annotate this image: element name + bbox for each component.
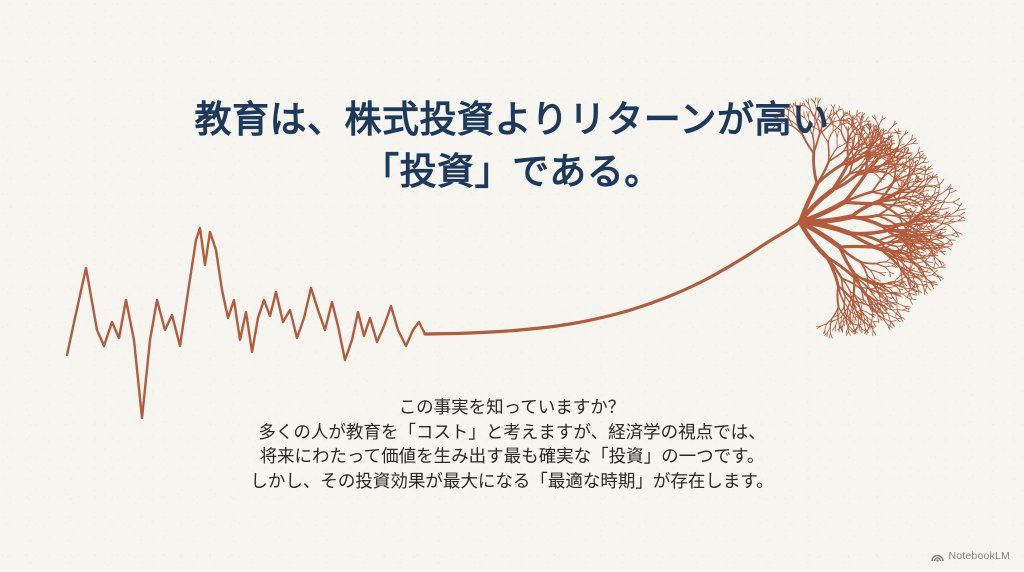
tree-branch (897, 303, 905, 307)
body-paragraph: この事実を知っていますか？ 多くの人が教育を「コスト」と考えますが、経済学の視点… (0, 395, 1024, 493)
tree-branch (910, 265, 911, 271)
tree-branch (941, 247, 946, 248)
tree-branch (947, 246, 952, 247)
tree-branch (927, 225, 933, 227)
body-line-2: 多くの人が教育を「コスト」と考えますが、経済学の視点では、 (0, 420, 1024, 445)
tree-branch (873, 322, 875, 327)
tree-branch (915, 291, 916, 295)
tree-branch (841, 317, 842, 325)
tree-branch (833, 326, 836, 330)
tree-branch (935, 262, 938, 266)
body-line-3: 将来にわたって価値を生み出す最も確実な「投資」の一つです。 (0, 444, 1024, 469)
tree-branch (828, 327, 831, 333)
tree-branch (910, 294, 915, 296)
tree-branch (848, 332, 850, 336)
tree-branch (921, 281, 929, 283)
tree-branch (924, 236, 935, 237)
tree-branch (948, 224, 956, 231)
notebooklm-watermark: NotebookLM (931, 550, 1010, 562)
tree-branch (853, 316, 854, 322)
tree-branch (943, 235, 951, 236)
tree-branch (947, 240, 951, 244)
tree-branch (896, 295, 898, 301)
tree-branch (885, 266, 892, 267)
tree-branch (927, 285, 931, 290)
tree-branch (875, 278, 881, 281)
tree-branch (953, 202, 959, 205)
tree-branch (886, 262, 893, 264)
tree-branch (825, 324, 826, 330)
tree-branch (947, 247, 951, 250)
tree-branch (910, 294, 912, 299)
title-line-2: 「投資」である。 (0, 146, 1024, 198)
tree-branch (846, 315, 847, 320)
tree-branch (885, 267, 889, 272)
tree-branch (935, 214, 939, 215)
tree-branch (957, 209, 965, 211)
tree-branch (935, 218, 941, 221)
tree-branch (910, 299, 916, 300)
tree-branch (952, 235, 958, 237)
tree-branch (902, 310, 909, 312)
page-title: 教育は、株式投資よりリターンが高い 「投資」である。 (0, 94, 1024, 198)
tree-branch (878, 215, 894, 216)
tree-branch (830, 333, 832, 338)
body-line-1: この事実を知っていますか？ (0, 395, 1024, 420)
tree-branch (829, 333, 830, 338)
tree-branch (934, 262, 935, 267)
tree-branch (937, 240, 943, 243)
tree-branch (952, 232, 958, 235)
tree-branch (890, 322, 891, 328)
tree-branch (890, 320, 896, 321)
tree-branch (876, 264, 885, 268)
tree-branch (876, 262, 886, 264)
tree-branch (890, 321, 894, 326)
tree-branch (839, 326, 840, 332)
watermark-label: NotebookLM (948, 550, 1010, 562)
tree-branch (879, 292, 885, 293)
tree-branch (850, 312, 851, 320)
tree-branch (927, 227, 932, 231)
tree-branch (953, 198, 960, 202)
tree-branch (851, 216, 878, 218)
tree-branch (840, 247, 854, 273)
tree-branch (878, 216, 895, 225)
tree-branch (931, 226, 932, 231)
tree-branch (907, 293, 909, 296)
tree-branch (928, 252, 932, 255)
tree-branch (859, 324, 863, 325)
chart-line-group (67, 222, 800, 418)
tree-branch (947, 244, 952, 245)
tree-branch (892, 266, 896, 267)
chart-series-volatile-market-segment (67, 228, 425, 418)
tree-branch (910, 299, 912, 304)
tree-branch (957, 203, 962, 210)
tree-branch (940, 227, 946, 230)
body-line-4: しかし、その投資効果が最大になる「最適な時期」が存在します。 (0, 469, 1024, 494)
title-line-1: 教育は、株式投資よりリターンが高い (0, 94, 1024, 146)
slide-canvas: 教育は、株式投資よりリターンが高い 「投資」である。 この事実を知っていますか？… (0, 0, 1024, 572)
tree-branch (890, 272, 891, 277)
tree-branch (930, 216, 934, 218)
tree-branch (959, 212, 965, 216)
tree-branch (943, 236, 950, 240)
tree-branch (940, 208, 949, 210)
tree-branch (873, 330, 876, 335)
tree-branch (909, 218, 910, 226)
chart-series-smooth-growth-segment (425, 222, 800, 334)
tree-branch (871, 310, 873, 322)
notebooklm-spiral-icon (931, 551, 944, 562)
tree-branch (870, 247, 886, 248)
tree-branch (889, 315, 896, 318)
tree-branch (852, 324, 854, 330)
tree-branch (930, 209, 935, 210)
